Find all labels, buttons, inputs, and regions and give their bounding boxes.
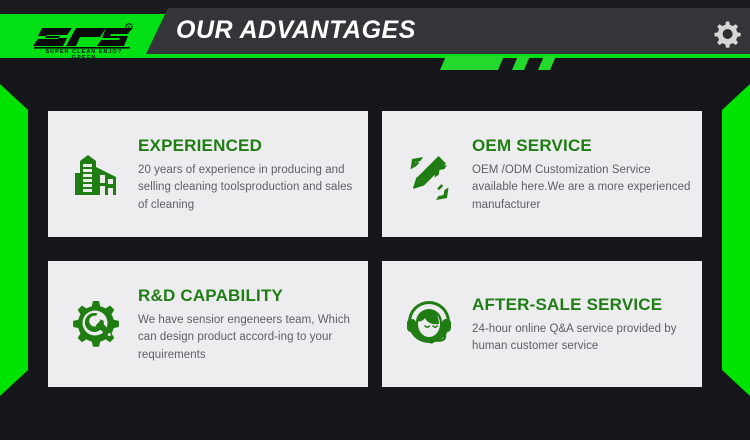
card-description: OEM /ODM Customization Service available… (472, 162, 694, 215)
card-body: OEM SERVICE OEM /ODM Customization Servi… (472, 134, 694, 215)
card-title: AFTER-SALE SERVICE (472, 295, 694, 315)
card-description: 24-hour online Q&A service provided by h… (472, 321, 694, 356)
advantages-grid: EXPERIENCED 20 years of experience in pr… (48, 111, 702, 387)
card-body: AFTER-SALE SERVICE 24-hour online Q&A se… (472, 293, 694, 356)
slash-1 (440, 56, 504, 70)
advantages-banner: R SUPER CLEAN ENJOY GREEN OUR ADVANTAGES (0, 0, 750, 440)
page-title: OUR ADVANTAGES (176, 13, 416, 47)
brand-logo[interactable]: R SUPER CLEAN ENJOY GREEN (28, 20, 136, 58)
building-icon (62, 141, 128, 207)
card-title: R&D CAPABILITY (138, 286, 360, 306)
card-title: OEM SERVICE (472, 136, 694, 156)
card-body: R&D CAPABILITY We have sensior engeneers… (138, 284, 360, 365)
gear-wrench-icon (62, 291, 128, 357)
svg-text:R: R (127, 25, 130, 30)
advantage-card-oem-service[interactable]: OEM SERVICE OEM /ODM Customization Servi… (382, 111, 702, 237)
card-body: EXPERIENCED 20 years of experience in pr… (138, 134, 360, 215)
card-title: EXPERIENCED (138, 136, 360, 156)
advantage-card-experienced[interactable]: EXPERIENCED 20 years of experience in pr… (48, 111, 368, 237)
right-green-accent-bar (722, 84, 750, 396)
header-underline (0, 58, 750, 62)
page-header: R SUPER CLEAN ENJOY GREEN OUR ADVANTAGES (0, 0, 750, 92)
card-description: We have sensior engeneers team, Which ca… (138, 312, 360, 365)
advantage-card-rd-capability[interactable]: R&D CAPABILITY We have sensior engeneers… (48, 261, 368, 387)
left-green-accent-bar (0, 84, 28, 396)
slash-3 (538, 56, 556, 70)
headset-support-icon (396, 291, 462, 357)
slash-2 (512, 56, 530, 70)
card-description: 20 years of experience in producing and … (138, 162, 360, 215)
pencil-ruler-icon (396, 141, 462, 207)
header-slash-decoration (440, 56, 560, 74)
gear-icon[interactable] (706, 14, 746, 54)
advantage-card-after-sale-service[interactable]: AFTER-SALE SERVICE 24-hour online Q&A se… (382, 261, 702, 387)
